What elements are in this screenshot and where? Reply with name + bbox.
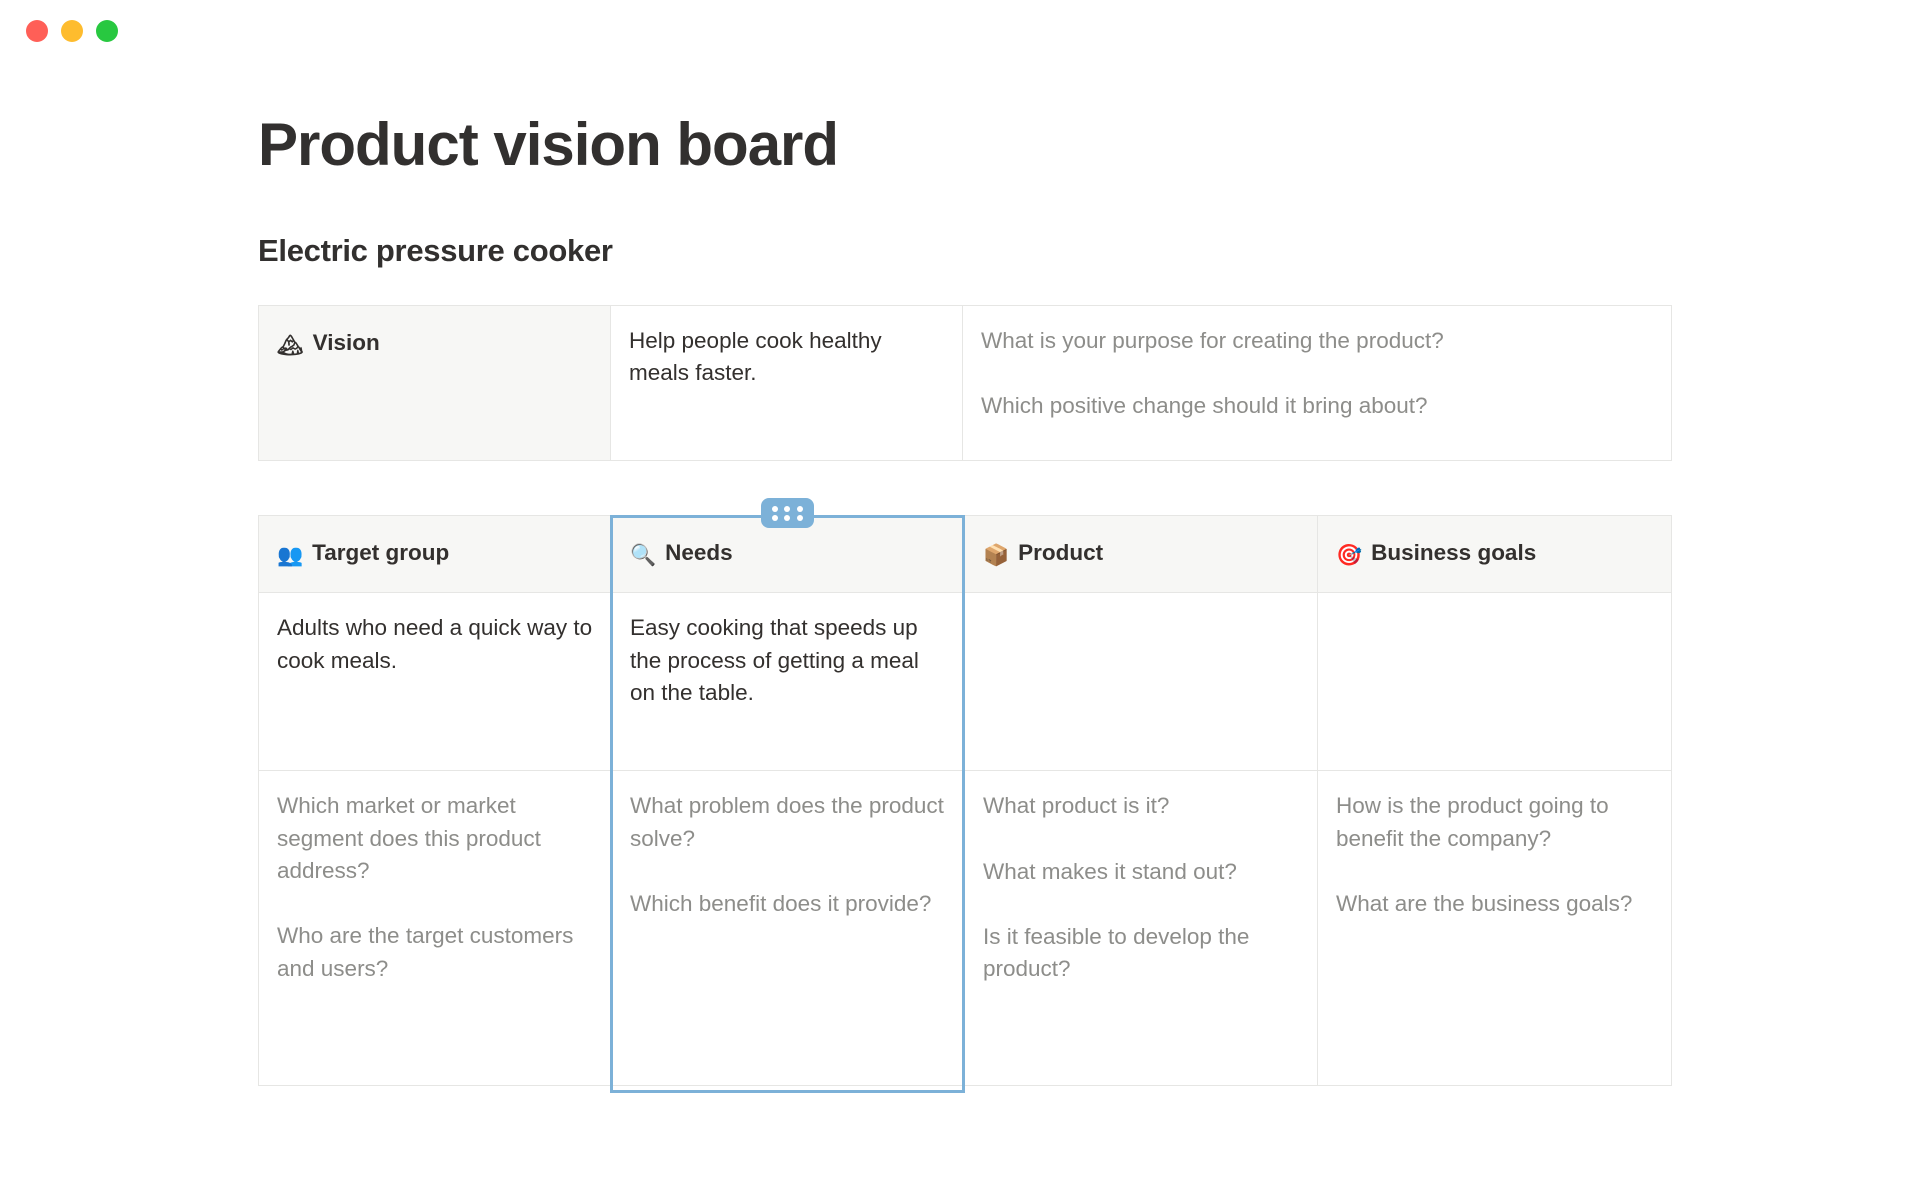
header-cell-target-group[interactable]: 👥Target group <box>259 516 612 593</box>
header-cell-product[interactable]: 📦Product <box>965 516 1318 593</box>
placeholder-cell-needs[interactable]: What problem does the product solve? Whi… <box>612 771 965 1086</box>
value-cell-target-group[interactable]: Adults who need a quick way to cook meal… <box>259 593 612 771</box>
page-title: Product vision board <box>258 110 1678 179</box>
placeholder-line: What are the business goals? <box>1336 888 1653 920</box>
column-drag-handle[interactable] <box>610 498 965 528</box>
placeholder-line: Is it feasible to develop the product? <box>983 921 1299 986</box>
value-cell-product[interactable] <box>965 593 1318 771</box>
table-placeholder-row: Which market or market segment does this… <box>259 771 1672 1086</box>
header-label-business-goals: Business goals <box>1371 540 1536 565</box>
vision-value-cell[interactable]: Help people cook healthy meals faster. <box>611 306 963 461</box>
close-button[interactable] <box>26 20 48 42</box>
placeholder-line: Which benefit does it provide? <box>630 888 946 920</box>
placeholder-line: What problem does the product solve? <box>630 790 946 855</box>
direct-hit-emoji: 🎯 <box>1336 541 1362 571</box>
vision-placeholder-cell[interactable]: What is your purpose for creating the pr… <box>963 306 1672 461</box>
header-cell-business-goals[interactable]: 🎯Business goals <box>1318 516 1672 593</box>
placeholder-cell-product[interactable]: What product is it? What makes it stand … <box>965 771 1318 1086</box>
app-window: Product vision board Electric pressure c… <box>0 0 1920 1200</box>
placeholder-line: How is the product going to benefit the … <box>1336 790 1653 855</box>
document-content: Product vision board Electric pressure c… <box>258 110 1678 1086</box>
vision-placeholder-line-2: Which positive change should it bring ab… <box>981 390 1653 422</box>
header-label-needs: Needs <box>665 540 733 565</box>
placeholder-cell-target-group[interactable]: Which market or market segment does this… <box>259 771 612 1086</box>
vision-row: 🏔Vision Help people cook healthy meals f… <box>259 306 1672 461</box>
vision-table: 🏔Vision Help people cook healthy meals f… <box>258 305 1672 461</box>
busts-in-silhouette-emoji: 👥 <box>277 541 303 571</box>
mountain-emoji: 🏔 <box>277 331 304 361</box>
placeholder-cell-business-goals[interactable]: How is the product going to benefit the … <box>1318 771 1672 1086</box>
product-vision-table: 👥Target group 🔍Needs 📦Product 🎯Business … <box>258 515 1672 1086</box>
placeholder-line: Who are the target customers and users? <box>277 920 593 985</box>
placeholder-line: What product is it? <box>983 790 1299 822</box>
placeholder-line: What makes it stand out? <box>983 856 1299 888</box>
table-header-row: 👥Target group 🔍Needs 📦Product 🎯Business … <box>259 516 1672 593</box>
main-table-wrapper: 👥Target group 🔍Needs 📦Product 🎯Business … <box>258 515 1678 1086</box>
package-emoji: 📦 <box>983 541 1009 571</box>
table-value-row: Adults who need a quick way to cook meal… <box>259 593 1672 771</box>
vision-label-cell[interactable]: 🏔Vision <box>259 306 611 461</box>
value-cell-needs[interactable]: Easy cooking that speeds up the process … <box>612 593 965 771</box>
window-titlebar <box>0 0 1920 62</box>
value-cell-business-goals[interactable] <box>1318 593 1672 771</box>
maximize-button[interactable] <box>96 20 118 42</box>
window-controls <box>26 20 118 42</box>
header-label-product: Product <box>1018 540 1103 565</box>
vision-label: Vision <box>313 330 380 355</box>
header-label-target-group: Target group <box>312 540 449 565</box>
vision-placeholder-line-1: What is your purpose for creating the pr… <box>981 325 1653 357</box>
magnifying-glass-emoji: 🔍 <box>630 541 656 571</box>
minimize-button[interactable] <box>61 20 83 42</box>
placeholder-line: Which market or market segment does this… <box>277 790 593 887</box>
grip-dots-icon[interactable] <box>761 498 814 528</box>
page-subtitle: Electric pressure cooker <box>258 233 1678 269</box>
